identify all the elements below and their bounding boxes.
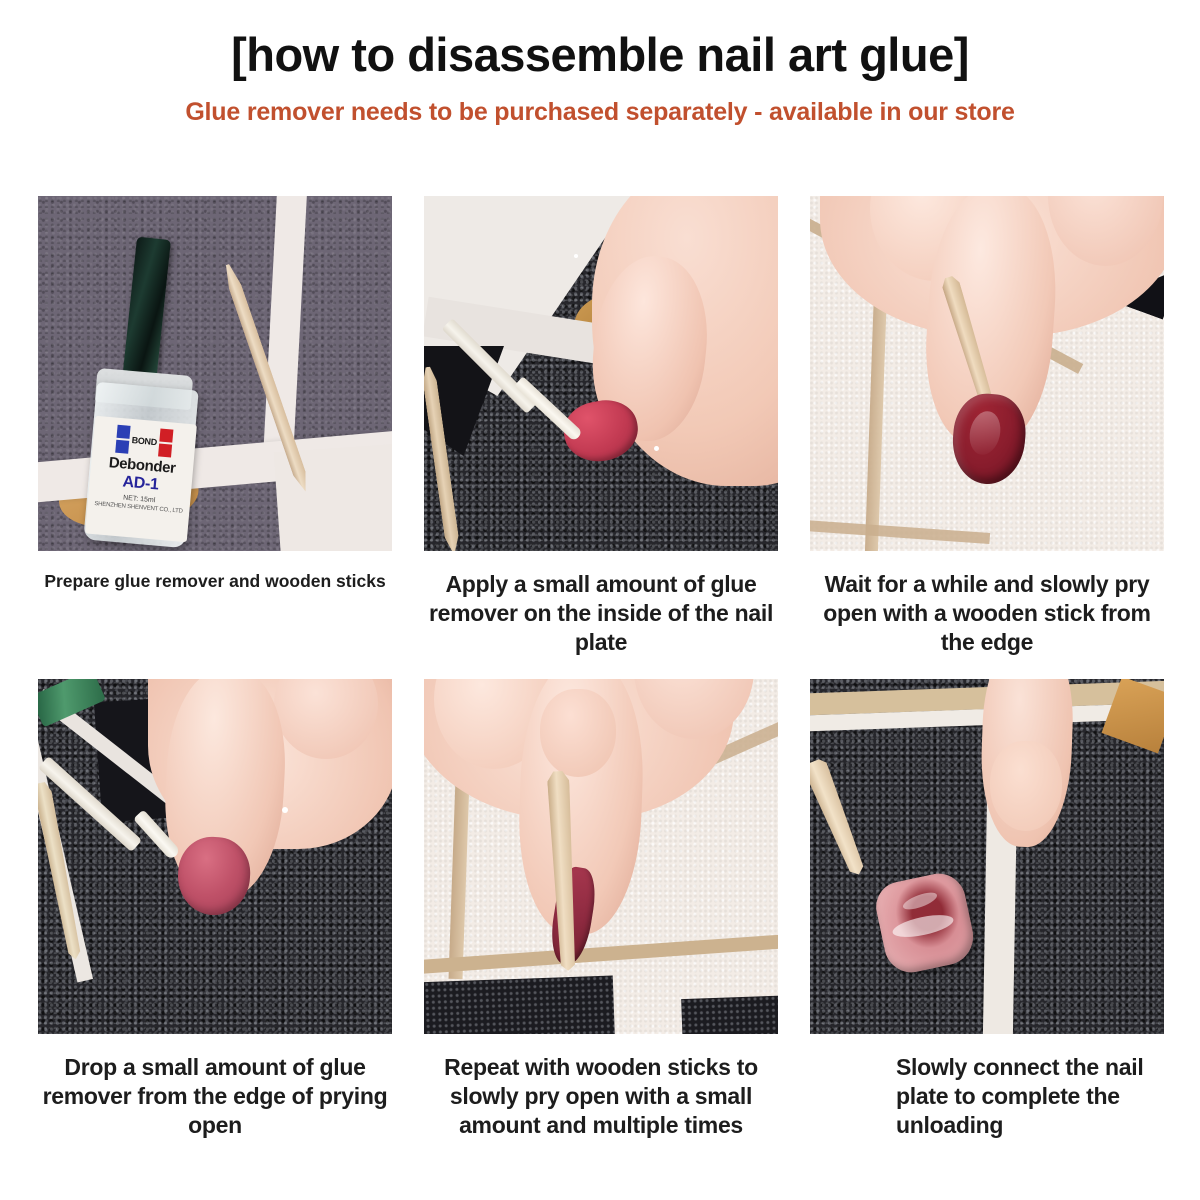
step-caption-6: Slowly connect the nail plate to complet…: [810, 1053, 1164, 1140]
step-photo-2: [424, 196, 778, 551]
step-photo-1: BOND Debonder AD-1 NET: 15ml SHENZHEN SH…: [38, 196, 392, 551]
step-photo-5: [424, 679, 778, 1034]
highlight-dot: [654, 446, 659, 451]
header: [how to disassemble nail art glue] Glue …: [0, 0, 1200, 127]
steps-row-bottom: Drop a small amount of glue remover from…: [38, 679, 1164, 1140]
bottle-model: AD-1: [122, 473, 160, 494]
bottle-brand: BOND: [131, 435, 157, 447]
page-title: [how to disassemble nail art glue]: [0, 30, 1200, 79]
natural-nail: [540, 689, 616, 777]
step-card-6: Slowly connect the nail plate to complet…: [810, 679, 1164, 1140]
step-caption-3: Wait for a while and slowly pry open wit…: [810, 570, 1164, 657]
steps-grid: BOND Debonder AD-1 NET: 15ml SHENZHEN SH…: [38, 196, 1164, 1140]
step-photo-4: [38, 679, 392, 1034]
step-caption-2: Apply a small amount of glue remover on …: [424, 570, 778, 657]
step-card-1: BOND Debonder AD-1 NET: 15ml SHENZHEN SH…: [38, 196, 392, 657]
step-card-2: Apply a small amount of glue remover on …: [424, 196, 778, 657]
step-photo-3: [810, 196, 1164, 551]
step-caption-1: Prepare glue remover and wooden sticks: [38, 570, 392, 592]
bond-logo-icon: BOND: [116, 425, 174, 458]
steps-row-top: BOND Debonder AD-1 NET: 15ml SHENZHEN SH…: [38, 196, 1164, 657]
bottle-net-volume: NET: 15ml: [123, 495, 156, 505]
highlight-dot: [282, 807, 288, 813]
infographic-page: [how to disassemble nail art glue] Glue …: [0, 0, 1200, 1200]
black-patch: [681, 995, 778, 1034]
step-photo-6: [810, 679, 1164, 1034]
step-caption-4: Drop a small amount of glue remover from…: [38, 1053, 392, 1140]
page-subtitle: Glue remover needs to be purchased separ…: [0, 98, 1200, 127]
bottle-company: SHENZHEN SHENVENT CO., LTD: [94, 501, 183, 515]
bottle-label: BOND Debonder AD-1 NET: 15ml SHENZHEN SH…: [85, 416, 197, 542]
bottle-product: Debonder: [108, 454, 176, 477]
fingertip: [990, 741, 1062, 831]
step-caption-5: Repeat with wooden sticks to slowly pry …: [424, 1053, 778, 1140]
highlight-dot: [574, 254, 578, 258]
black-patch: [424, 975, 615, 1033]
step-card-4: Drop a small amount of glue remover from…: [38, 679, 392, 1140]
step-card-5: Repeat with wooden sticks to slowly pry …: [424, 679, 778, 1140]
step-card-3: Wait for a while and slowly pry open wit…: [810, 196, 1164, 657]
